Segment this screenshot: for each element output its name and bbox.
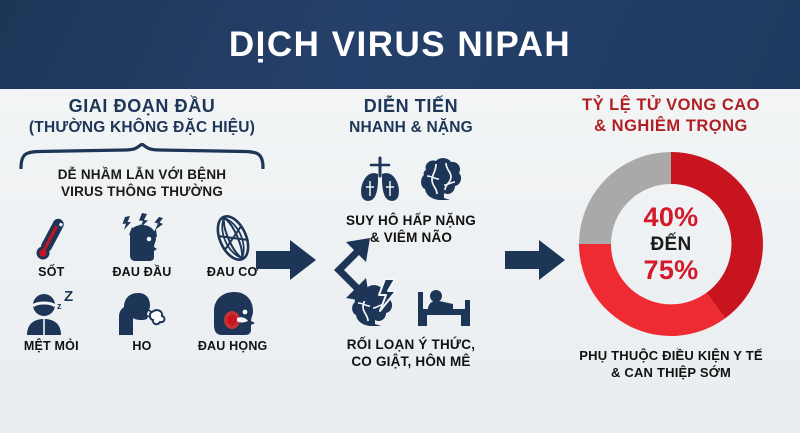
brain-icon	[417, 154, 465, 209]
symptom-item-sore-throat: ĐAU HỌNG	[191, 285, 275, 353]
right-caption-line2: & CAN THIỆP SỚM	[545, 365, 797, 382]
thermometer-icon	[28, 211, 74, 263]
header-band: DỊCH VIRUS NIPAH	[0, 0, 800, 89]
column-mortality: TỶ LỆ TỬ VONG CAO & NGHIÊM TRỌNG 40% ĐẾN…	[545, 95, 797, 382]
curly-brace-icon	[17, 143, 267, 169]
middle-icons-top	[300, 153, 522, 209]
middle-heading-line1: DIỄN TIẾN	[364, 96, 458, 116]
symptom-item-headache: ĐAU ĐẦU	[100, 211, 184, 279]
right-caption-line1: PHỤ THUỘC ĐIỀU KIỆN Y TẾ	[545, 348, 797, 365]
middle-caption-bottom: RỐI LOẠN Ý THỨC, CO GIẬT, HÔN MÊ	[300, 337, 522, 371]
left-heading-sub: (THƯỜNG KHÔNG ĐẶC HIỆU)	[6, 118, 278, 137]
headache-head-icon	[113, 211, 171, 263]
right-heading-line1: TỶ LỆ TỬ VONG CAO	[545, 95, 797, 116]
symptom-label: HO	[132, 339, 151, 353]
left-brace-note-line1: DỄ NHẦM LẪN VỚI BỆNH	[6, 167, 278, 184]
symptom-item-cough: HO	[100, 285, 184, 353]
symptom-grid: SỐT ĐAU ĐẦU	[6, 211, 278, 353]
cough-person-icon	[114, 285, 170, 337]
muscle-icon	[207, 211, 259, 263]
middle-heading-line2: NHANH & NẶNG	[300, 118, 522, 137]
symptom-item-fatigue: Z z MỆT MỎI	[9, 285, 93, 353]
fatigue-sleeping-person-icon: Z z	[23, 285, 79, 337]
symptom-item-fever: SỐT	[9, 211, 93, 279]
mortality-range-connector: ĐẾN	[611, 235, 731, 254]
mortality-max-percent: 75%	[611, 257, 731, 284]
left-column-heading: GIAI ĐOẠN ĐẦU (THƯỜNG KHÔNG ĐẶC HIỆU)	[6, 95, 278, 137]
symptom-label: SỐT	[38, 265, 64, 279]
symptom-label: ĐAU CƠ	[207, 265, 258, 279]
lungs-icon	[357, 154, 403, 209]
left-brace-note: DỄ NHẦM LẪN VỚI BỆNH VIRUS THÔNG THƯỜNG	[6, 167, 278, 201]
infographic-poster: DỊCH VIRUS NIPAH GIAI ĐOẠN ĐẦU (THƯỜNG K…	[0, 0, 800, 433]
symptom-label: ĐAU HỌNG	[198, 339, 268, 353]
arrow-split-branching	[332, 228, 384, 317]
svg-text:z: z	[57, 301, 62, 311]
patient-in-bed-icon	[415, 278, 473, 333]
symptom-label: ĐAU ĐẦU	[112, 265, 171, 279]
left-heading-main: GIAI ĐOẠN ĐẦU	[69, 96, 216, 116]
middle-column-heading: DIỄN TIẾN NHANH & NẶNG	[300, 95, 522, 137]
donut-center-label: 40% ĐẾN 75%	[611, 204, 731, 284]
svg-text:Z: Z	[64, 288, 73, 305]
middle-caption-bottom-line1: RỐI LOẠN Ý THỨC,	[300, 337, 522, 354]
mortality-donut-chart: 40% ĐẾN 75%	[575, 148, 767, 340]
page-title: DỊCH VIRUS NIPAH	[229, 27, 571, 62]
sore-throat-icon	[204, 285, 262, 337]
right-caption: PHỤ THUỘC ĐIỀU KIỆN Y TẾ & CAN THIỆP SỚM	[545, 348, 797, 382]
middle-caption-bottom-line2: CO GIẬT, HÔN MÊ	[300, 354, 522, 371]
symptom-label: MỆT MỎI	[24, 339, 79, 353]
mortality-min-percent: 40%	[611, 204, 731, 231]
right-column-heading: TỶ LỆ TỬ VONG CAO & NGHIÊM TRỌNG	[545, 95, 797, 136]
column-early-stage: GIAI ĐOẠN ĐẦU (THƯỜNG KHÔNG ĐẶC HIỆU) DỄ…	[6, 95, 278, 353]
left-brace-note-line2: VIRUS THÔNG THƯỜNG	[6, 184, 278, 201]
right-heading-line2: & NGHIÊM TRỌNG	[545, 116, 797, 137]
